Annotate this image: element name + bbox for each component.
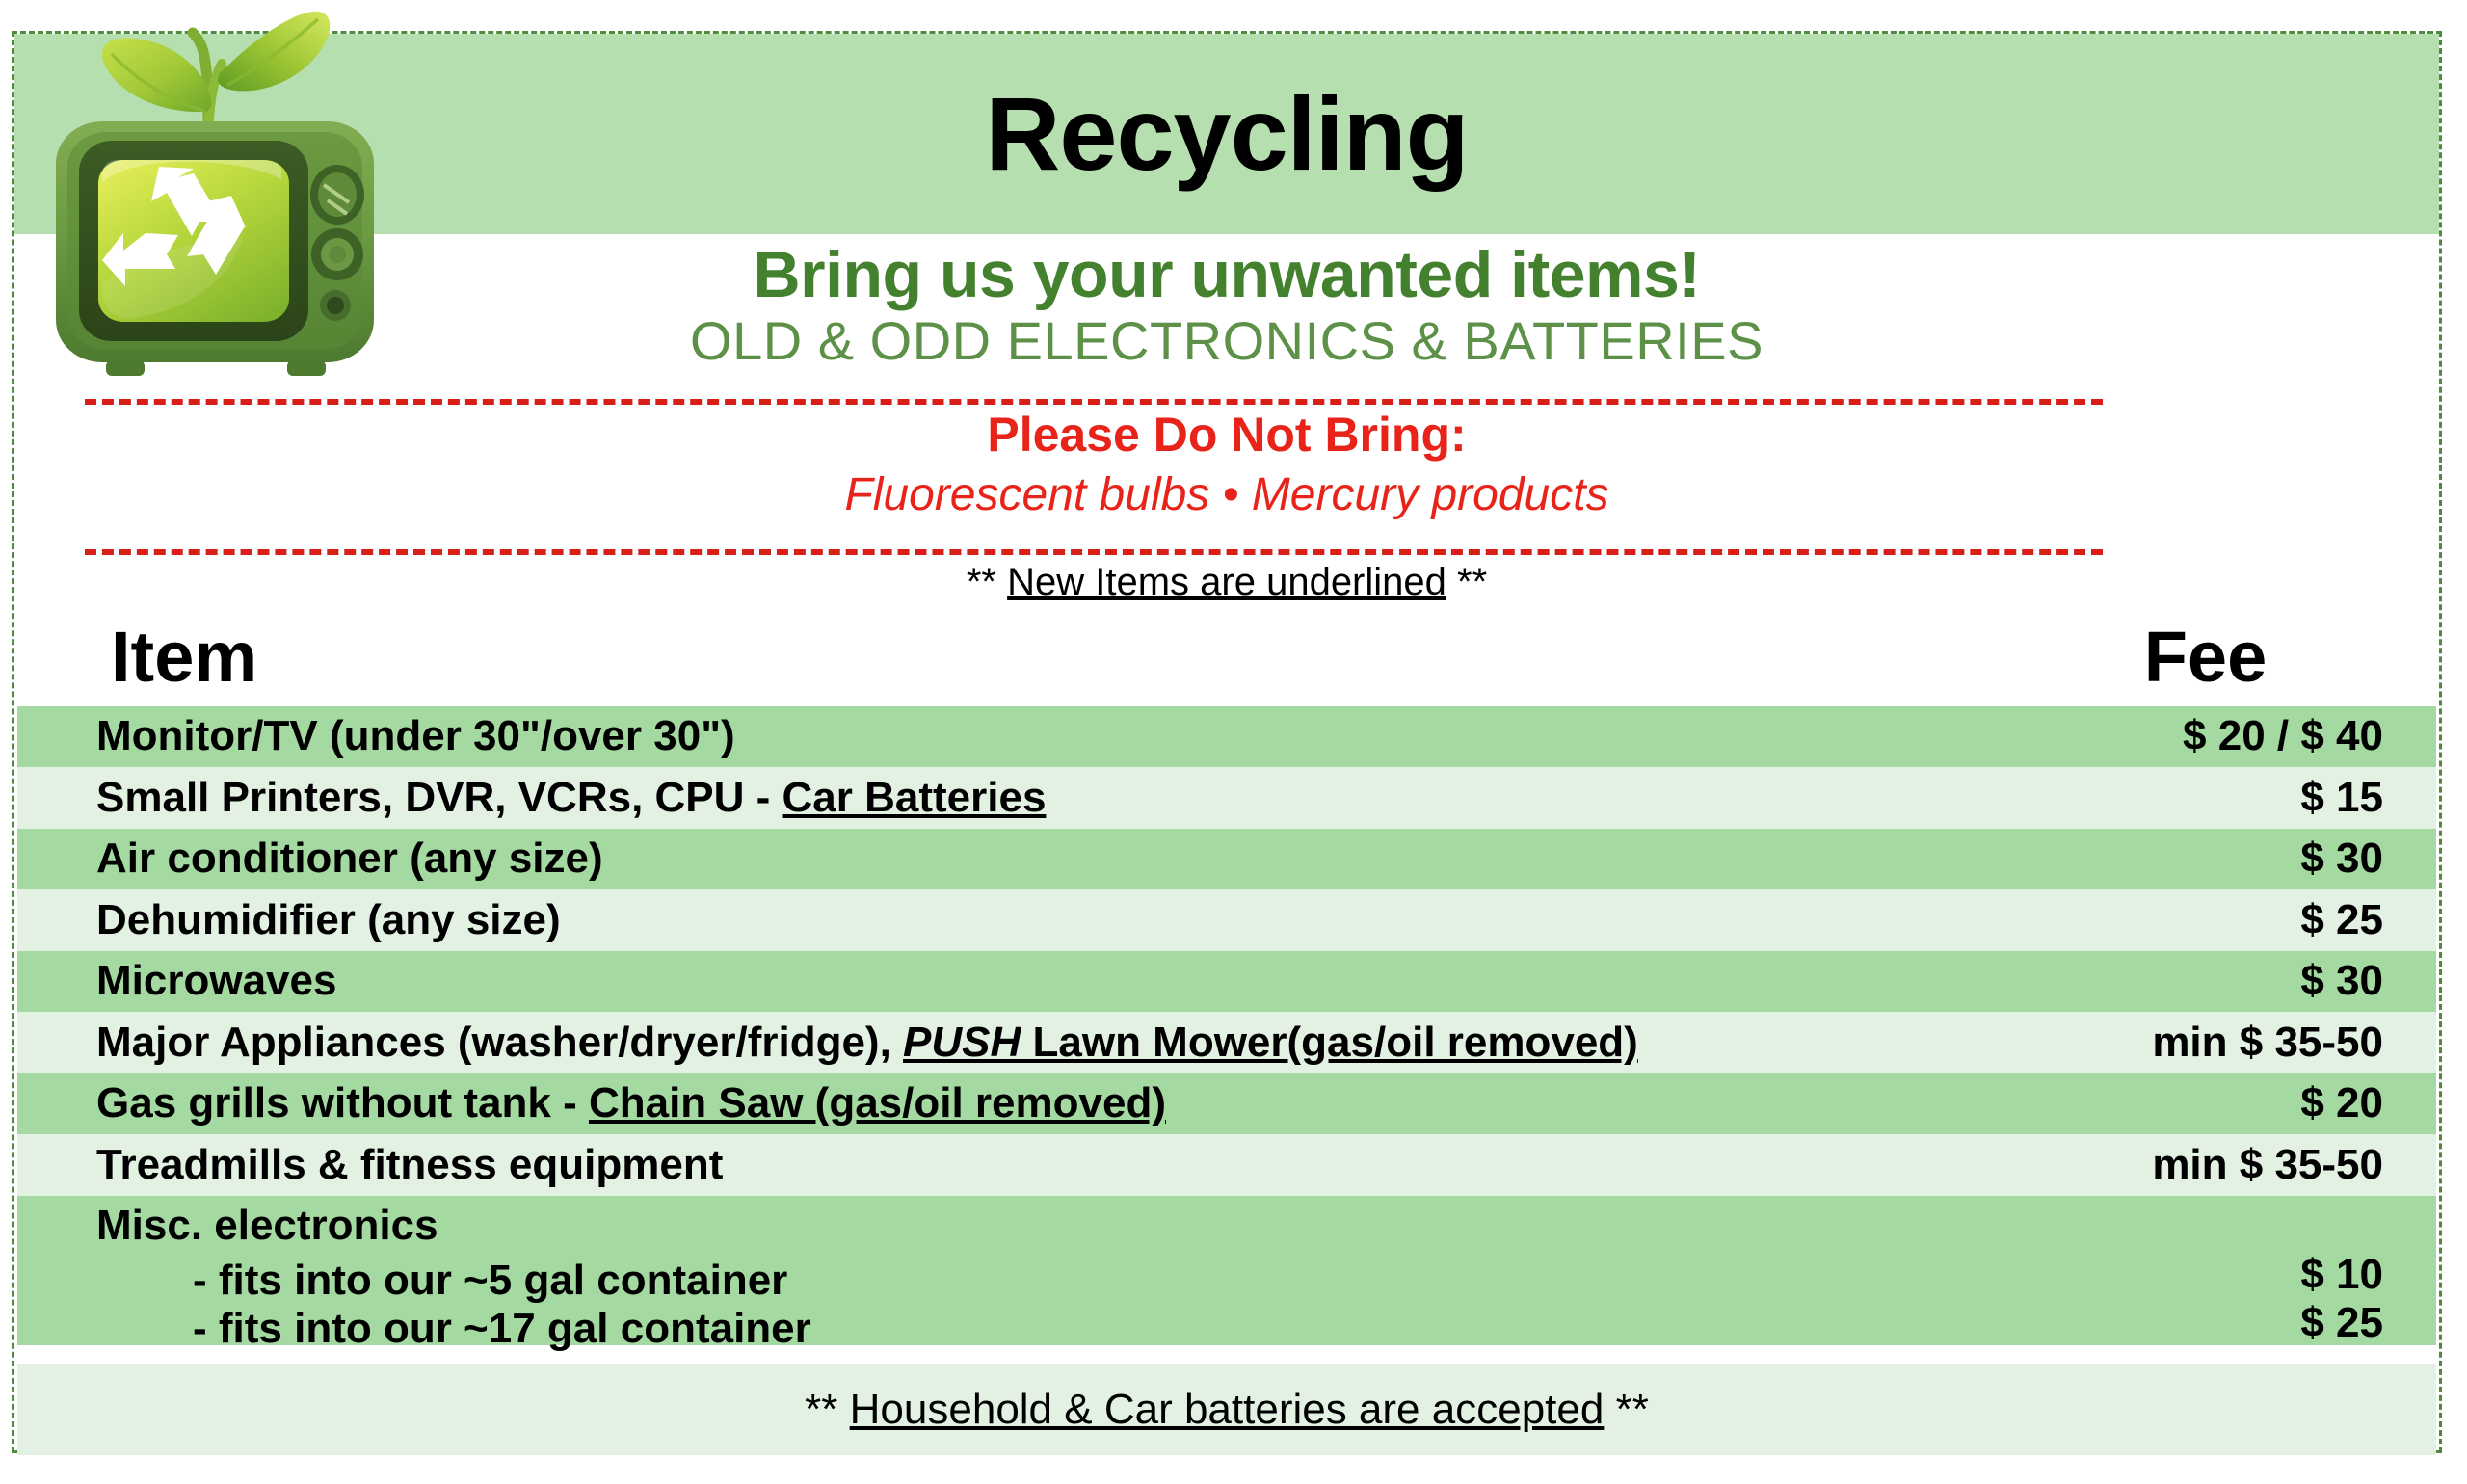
row-fee-value: min $ 35-50 [2031, 1141, 2436, 1190]
row-item-text: Small Printers, DVR, VCRs, CPU - [96, 774, 783, 821]
row-item-label: Misc. electronics - fits into our ~5 gal… [17, 1196, 2031, 1345]
row-fee-value: $ 25 [2031, 896, 2436, 945]
footer-note-suffix: ** [1604, 1386, 1648, 1433]
row-item-new: Chain Saw (gas/oil removed) [589, 1079, 1166, 1126]
row-fee-value: $ 20 / $ 40 [2031, 712, 2436, 761]
row-subitem-label: - fits into our ~5 gal container [96, 1257, 2031, 1306]
new-items-note-suffix: ** [1446, 561, 1487, 603]
tv-recycle-sprout-logo [39, 0, 395, 409]
table-row: Air conditioner (any size) $ 30 [17, 829, 2436, 889]
table-row: Gas grills without tank - Chain Saw (gas… [17, 1073, 2436, 1134]
new-items-note-underlined: New Items are underlined [1007, 561, 1446, 603]
divider-red-bottom [85, 549, 2103, 555]
row-fee-value: $ 10 $ 25 [2031, 1196, 2436, 1345]
table-row: Major Appliances (washer/dryer/fridge), … [17, 1012, 2436, 1073]
row-fee-value: $ 15 [2031, 774, 2436, 823]
new-items-note: ** New Items are underlined ** [14, 561, 2439, 604]
row-item-label: Microwaves [17, 957, 2031, 1006]
row-item-label: Dehumidifier (any size) [17, 896, 2031, 945]
footer-note: ** Household & Car batteries are accepte… [805, 1386, 1649, 1434]
table-row: Dehumidifier (any size) $ 25 [17, 889, 2436, 951]
new-items-note-prefix: ** [967, 561, 1007, 603]
row-subitem-fee: $ 25 [2031, 1299, 2383, 1348]
row-item-text: Major Appliances (washer/dryer/fridge), [96, 1019, 903, 1066]
page-title: Recycling [985, 82, 1468, 186]
do-not-bring-block: Please Do Not Bring: Fluorescent bulbs •… [14, 405, 2439, 525]
row-item-emphasis: PUSH [903, 1019, 1021, 1066]
row-fee-value: $ 20 [2031, 1079, 2436, 1128]
row-item-label: Monitor/TV (under 30"/over 30") [17, 712, 2031, 761]
row-item-new: Lawn Mower(gas/oil removed) [1021, 1019, 1638, 1066]
row-subitem-fee: $ 10 [2031, 1251, 2383, 1300]
row-fee-value: min $ 35-50 [2031, 1019, 2436, 1068]
footer-note-underlined: Household & Car batteries are accepted [850, 1386, 1605, 1433]
do-not-bring-items: Fluorescent bulbs • Mercury products [14, 465, 2439, 525]
row-fee-value: $ 30 [2031, 957, 2436, 1006]
table-row: Treadmills & fitness equipment min $ 35-… [17, 1134, 2436, 1196]
fee-table: Monitor/TV (under 30"/over 30") $ 20 / $… [17, 706, 2436, 1345]
column-header-item: Item [14, 616, 2025, 698]
table-header: Item Fee [14, 609, 2439, 703]
footer-note-prefix: ** [805, 1386, 849, 1433]
do-not-bring-heading: Please Do Not Bring: [14, 405, 2439, 465]
row-item-label: Small Printers, DVR, VCRs, CPU - Car Bat… [17, 774, 2031, 823]
row-item-text: Gas grills without tank - [96, 1079, 589, 1126]
row-item-text: Misc. electronics [96, 1202, 438, 1249]
row-fee-value: $ 30 [2031, 835, 2436, 884]
row-item-new: Car Batteries [783, 774, 1047, 821]
row-item-label: Air conditioner (any size) [17, 835, 2031, 884]
row-item-label: Treadmills & fitness equipment [17, 1141, 2031, 1190]
row-item-label: Gas grills without tank - Chain Saw (gas… [17, 1079, 2031, 1128]
table-row: Monitor/TV (under 30"/over 30") $ 20 / $… [17, 706, 2436, 767]
recycling-flyer: Recycling Bring us your unwanted items! … [0, 0, 2467, 1484]
table-row: Microwaves $ 30 [17, 951, 2436, 1012]
table-row: Small Printers, DVR, VCRs, CPU - Car Bat… [17, 767, 2436, 829]
row-item-label: Major Appliances (washer/dryer/fridge), … [17, 1019, 2031, 1068]
row-subitem-label: - fits into our ~17 gal container [96, 1305, 2031, 1354]
footer-note-row: ** Household & Car batteries are accepte… [17, 1364, 2436, 1455]
column-header-fee: Fee [2025, 616, 2439, 698]
table-row: Misc. electronics - fits into our ~5 gal… [17, 1196, 2436, 1345]
